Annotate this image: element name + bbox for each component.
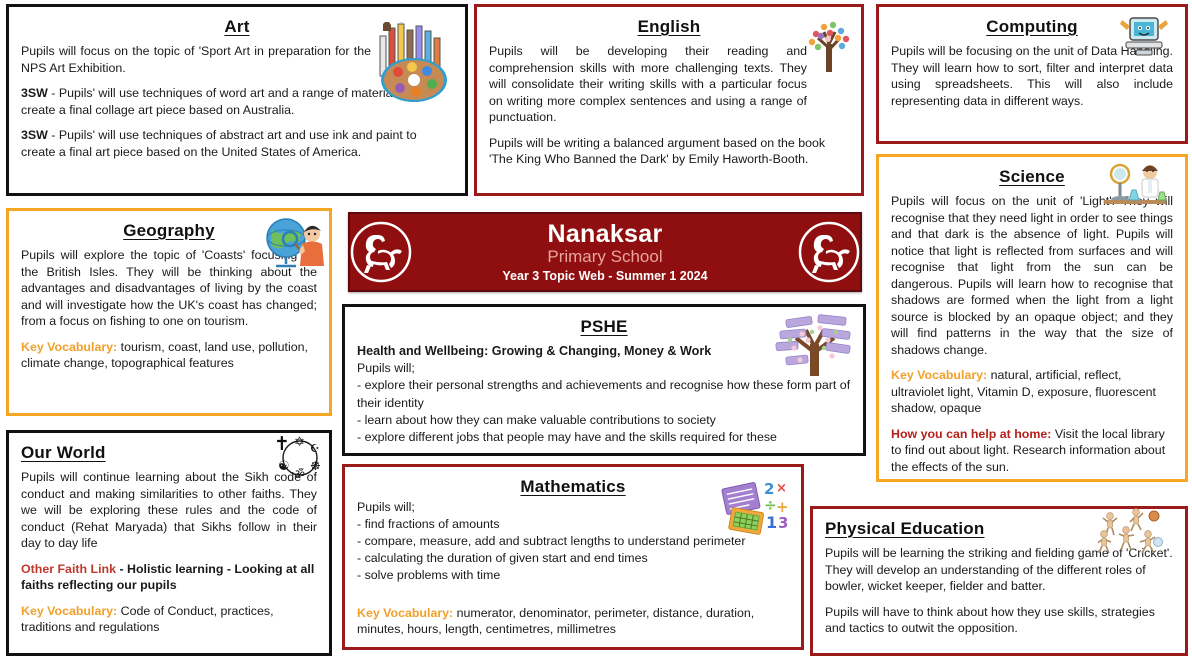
card-science-help-at-home: How you can help at home: Visit the loca… xyxy=(891,426,1173,476)
card-pe-paragraph-1: Pupils will be learning the striking and… xyxy=(825,545,1173,595)
banner-text-block: Nanaksar Primary School Year 3 Topic Web… xyxy=(412,222,798,283)
card-english-paragraph-1: Pupils will be developing their reading … xyxy=(489,43,807,126)
school-banner: Nanaksar Primary School Year 3 Topic Web… xyxy=(348,212,862,292)
card-mathematics-key-vocabulary: Key Vocabulary: numerator, denominator, … xyxy=(357,605,789,638)
banner-topic-subtitle: Year 3 Topic Web - Summer 1 2024 xyxy=(412,270,798,283)
card-science-paragraph-1: Pupils will focus on the unit of 'Light'… xyxy=(891,193,1173,358)
science-kv-label: Key Vocabulary: xyxy=(891,368,987,382)
card-geography-paragraph-1: Pupils will explore the topic of 'Coasts… xyxy=(21,247,317,330)
card-our-world-title: Our World xyxy=(21,443,317,463)
card-art-title: Art xyxy=(21,17,453,37)
maths-bullet: - calculating the duration of given star… xyxy=(357,550,789,567)
card-art-paragraph-1: Pupils will focus on the topic of 'Sport… xyxy=(21,43,371,76)
pshe-intro: Pupils will; xyxy=(357,360,851,377)
card-english-paragraph-2: Pupils will be writing a balanced argume… xyxy=(489,135,849,168)
card-science-title: Science xyxy=(891,167,1173,187)
card-art-paragraph-3-text: - Pupils' will use techniques of abstrac… xyxy=(21,128,417,159)
lion-logo xyxy=(798,221,860,283)
our-world-kv-label: Key Vocabulary: xyxy=(21,604,117,618)
card-art-class-label-1: 3SW xyxy=(21,86,48,100)
card-art-paragraph-2-text: - Pupils' will use techniques of word ar… xyxy=(21,86,415,117)
geography-kv-label: Key Vocabulary: xyxy=(21,340,117,354)
card-mathematics-body: Pupils will; - find fractions of amounts… xyxy=(357,499,789,585)
card-pshe-body: Health and Wellbeing: Growing & Changing… xyxy=(357,343,851,446)
card-mathematics-title: Mathematics xyxy=(357,477,789,497)
card-mathematics: Mathematics Pupils will; - find fraction… xyxy=(342,464,804,650)
pshe-heading: Health and Wellbeing: Growing & Changing… xyxy=(357,343,851,360)
maths-kv-label: Key Vocabulary: xyxy=(357,606,453,620)
card-geography: Geography Pupils will explore the topic … xyxy=(6,208,332,416)
card-art: Art Pupils will focus on the topic of 'S… xyxy=(6,4,468,196)
card-physical-education-title: Physical Education xyxy=(825,519,1173,539)
card-art-class-label-2: 3SW xyxy=(21,128,48,142)
science-help-label: How you can help at home: xyxy=(891,427,1051,441)
card-computing-title: Computing xyxy=(891,17,1173,37)
lion-logo xyxy=(350,221,412,283)
card-art-paragraph-3: 3SW - Pupils' will use techniques of abs… xyxy=(21,127,453,160)
pshe-bullet: - explore different jobs that people may… xyxy=(357,429,851,446)
maths-bullet: - solve problems with time xyxy=(357,567,789,584)
card-our-world-key-vocabulary: Key Vocabulary: Code of Conduct, practic… xyxy=(21,603,317,636)
card-pshe-title: PSHE xyxy=(357,317,851,337)
card-art-paragraph-2: 3SW - Pupils' will use techniques of wor… xyxy=(21,85,453,118)
card-computing: Computing Pupils will be focusing on the… xyxy=(876,4,1188,144)
card-science-key-vocabulary: Key Vocabulary: natural, artificial, ref… xyxy=(891,367,1173,417)
card-geography-title: Geography xyxy=(21,221,317,241)
card-our-world-faith-link: Other Faith Link - Holistic learning - L… xyxy=(21,561,317,594)
pshe-bullet: - learn about how they can make valuable… xyxy=(357,412,851,429)
pshe-bullet: - explore their personal strengths and a… xyxy=(357,377,857,411)
maths-intro: Pupils will; xyxy=(357,499,789,516)
banner-school-name: Nanaksar xyxy=(412,222,798,248)
card-physical-education: Physical Education Pupils will be learni… xyxy=(810,506,1188,656)
maths-bullet: - compare, measure, add and subtract len… xyxy=(357,533,789,550)
card-our-world: Our World Pupils will continue learning … xyxy=(6,430,332,656)
card-computing-paragraph-1: Pupils will be focusing on the unit of D… xyxy=(891,43,1173,109)
card-geography-key-vocabulary: Key Vocabulary: tourism, coast, land use… xyxy=(21,339,317,372)
card-english: English Pupils will be developing their … xyxy=(474,4,864,196)
card-our-world-paragraph-1: Pupils will continue learning about the … xyxy=(21,469,317,552)
card-science: Science Pupils will focus on the unit of… xyxy=(876,154,1188,482)
card-english-title: English xyxy=(489,17,849,37)
banner-school-subtitle: Primary School xyxy=(412,248,798,265)
our-world-faith-label: Other Faith Link xyxy=(21,562,116,576)
maths-bullet: - find fractions of amounts xyxy=(357,516,789,533)
card-pshe: PSHE Health and Wellbeing: Growing & Cha… xyxy=(342,304,866,456)
card-pe-paragraph-2: Pupils will have to think about how they… xyxy=(825,604,1173,637)
